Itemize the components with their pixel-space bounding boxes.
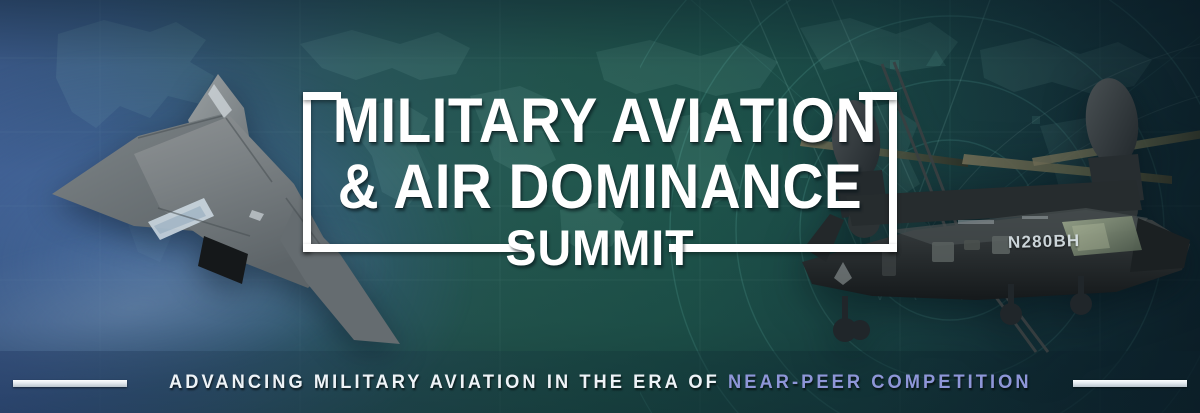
title-line-3-summit: SUMMIT — [324, 222, 876, 274]
aircraft-tail-number: N280BH — [1008, 231, 1081, 253]
tagline-rule-right — [1073, 380, 1187, 387]
tagline: ADVANCING MILITARY AVIATION IN THE ERA O… — [169, 372, 1032, 394]
title-lockup: MILITARY AVIATION & AIR DOMINANCE SUMMIT — [303, 92, 897, 260]
tagline-row: ADVANCING MILITARY AVIATION IN THE ERA O… — [0, 361, 1200, 405]
tagline-prefix: ADVANCING MILITARY AVIATION IN THE ERA O… — [169, 372, 728, 393]
title-line-1: MILITARY AVIATION — [333, 88, 868, 154]
tagline-highlight: NEAR-PEER COMPETITION — [728, 372, 1032, 393]
title-line-2: & AIR DOMINANCE — [333, 154, 868, 220]
page-title: MILITARY AVIATION & AIR DOMINANCE — [303, 88, 897, 220]
event-banner: N280BH MILITARY AVIATION & AIR DOMINANCE… — [0, 0, 1200, 413]
tagline-rule-left — [13, 380, 127, 387]
